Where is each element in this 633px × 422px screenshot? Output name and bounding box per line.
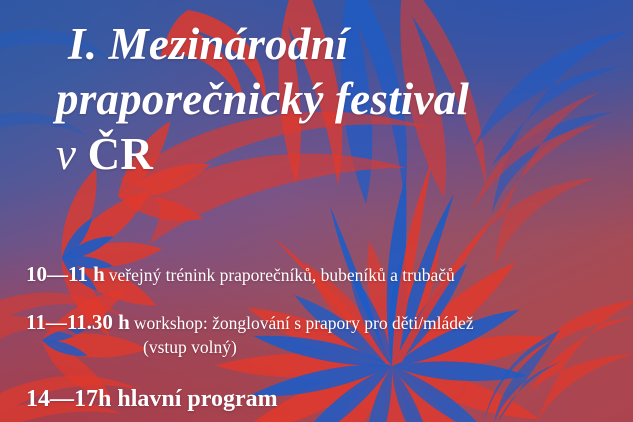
main-program-heading: 14—17h hlavní program <box>26 386 278 412</box>
main-program-heading-row: 14—17h hlavní program <box>26 386 626 414</box>
program-item-2-time: 11—11.30 h <box>26 310 130 334</box>
program-item-1: 10—11 h veřejný trénink praporečníků, bu… <box>26 262 626 286</box>
title-line-2: praporečnický festival <box>56 77 628 123</box>
title-line-1: I. Mezinárodní <box>68 22 628 68</box>
program-item-1-time: 10—11 h <box>26 262 105 286</box>
title-line-3: v ČR <box>56 132 628 178</box>
program-item-2: 11—11.30 h workshop: žonglování s prapor… <box>26 310 626 334</box>
poster-title: I. Mezinárodní praporečnický festival v … <box>68 22 628 178</box>
program-list: 10—11 h veřejný trénink praporečníků, bu… <box>26 262 626 422</box>
program-item-2-text: workshop: žonglování s prapory pro děti/… <box>134 313 474 333</box>
title-line-3-country: ČR <box>88 129 153 179</box>
program-item-1-text: veřejný trénink praporečníků, bubeníků a… <box>109 265 455 285</box>
program-item-2-note-row: (vstup volný) <box>26 337 626 358</box>
program-item-2-note: (vstup volný) <box>26 337 237 357</box>
title-line-3-prefix: v <box>56 129 88 179</box>
poster-canvas: I. Mezinárodní praporečnický festival v … <box>0 0 633 422</box>
